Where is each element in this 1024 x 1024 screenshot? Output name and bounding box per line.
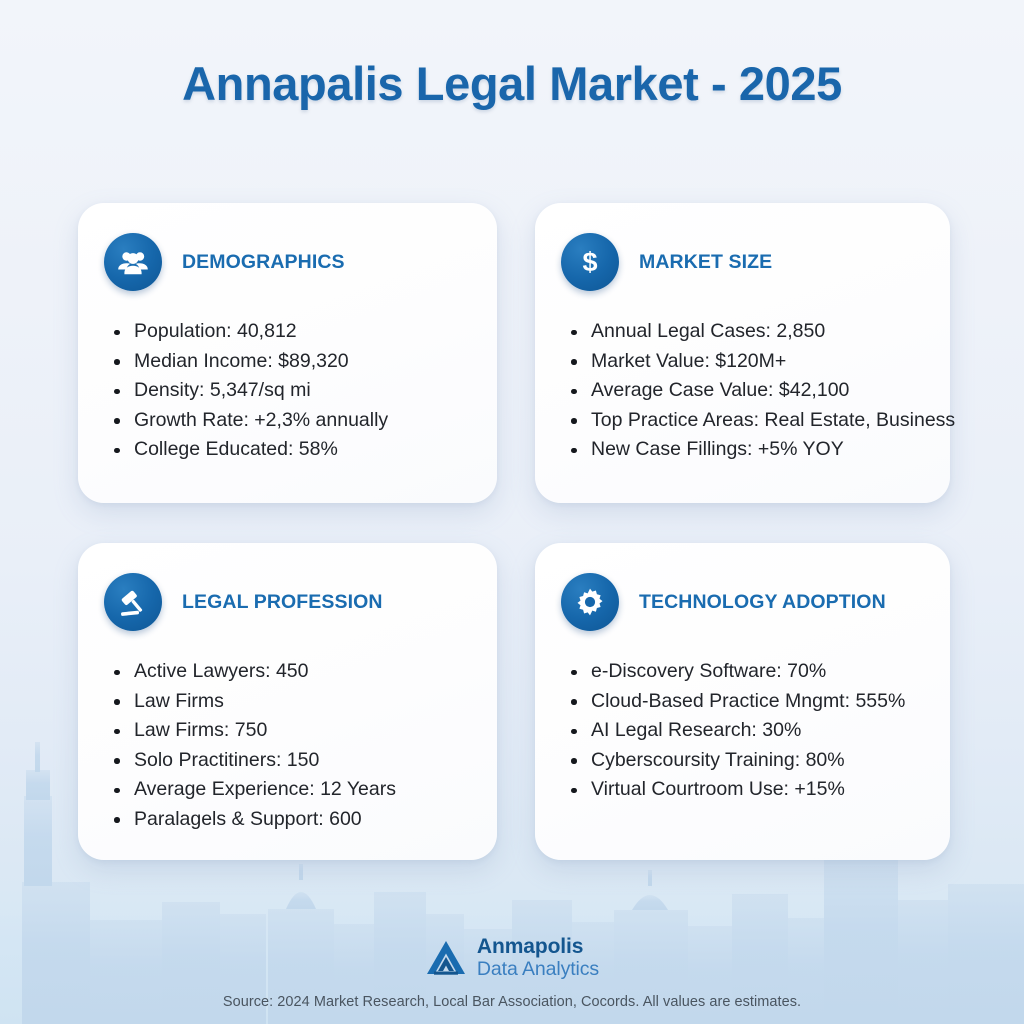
people-icon	[104, 233, 162, 291]
bullet-list-market-size: Annual Legal Cases: 2,850 Market Value: …	[561, 317, 924, 465]
list-item: AI Legal Research: 30%	[565, 716, 924, 746]
triangle-a-logo-icon	[425, 938, 467, 978]
footer: Anmapolis Data Analytics Source: 2024 Ma…	[0, 936, 1024, 1010]
source-note: Source: 2024 Market Research, Local Bar …	[0, 994, 1024, 1010]
list-item: Density: 5,347/sq mi	[108, 376, 471, 406]
card-market-size: $ MARKET SIZE Annual Legal Cases: 2,850 …	[535, 203, 950, 503]
page-title: Annapalis Legal Market - 2025	[0, 56, 1024, 111]
card-title-demographics: DEMOGRAPHICS	[182, 251, 345, 274]
gear-icon	[561, 573, 619, 631]
list-item: Paralagels & Support: 600	[108, 805, 471, 835]
list-item: Active Lawyers: 450	[108, 657, 471, 687]
list-item: Median Income: $89,320	[108, 347, 471, 377]
list-item: Law Firms: 750	[108, 716, 471, 746]
gavel-icon	[104, 573, 162, 631]
brand-tagline: Data Analytics	[477, 958, 599, 980]
list-item: Solo Practitiners: 150	[108, 746, 471, 776]
card-title-legal-profession: LEGAL PROFESSION	[182, 591, 383, 614]
list-item: New Case Fillings: +5% YOY	[565, 435, 924, 465]
infographic-poster: Annapalis Legal Market - 2025 DEMOGRAPHI…	[0, 0, 1024, 1024]
card-title-market-size: MARKET SIZE	[639, 251, 772, 274]
list-item: Virtual Courtroom Use: +15%	[565, 775, 924, 805]
dollar-icon: $	[561, 233, 619, 291]
card-header: TECHNOLOGY ADOPTION	[561, 573, 924, 631]
list-item: Market Value: $120M+	[565, 347, 924, 377]
brand-logo: Anmapolis Data Analytics	[0, 936, 1024, 980]
card-header: LEGAL PROFESSION	[104, 573, 471, 631]
list-item: Cyberscoursity Training: 80%	[565, 746, 924, 776]
card-demographics: DEMOGRAPHICS Population: 40,812 Median I…	[78, 203, 497, 503]
card-title-technology-adoption: TECHNOLOGY ADOPTION	[639, 591, 886, 614]
svg-text:$: $	[582, 247, 597, 277]
list-item: Average Experience: 12 Years	[108, 775, 471, 805]
list-item: Cloud-Based Practice Mngmt: 555%	[565, 687, 924, 717]
bullet-list-demographics: Population: 40,812 Median Income: $89,32…	[104, 317, 471, 465]
list-item: Law Firms	[108, 687, 471, 717]
card-grid: DEMOGRAPHICS Population: 40,812 Median I…	[78, 203, 950, 860]
list-item: Average Case Value: $42,100	[565, 376, 924, 406]
list-item: College Educated: 58%	[108, 435, 471, 465]
card-header: $ MARKET SIZE	[561, 233, 924, 291]
brand-logo-text: Anmapolis Data Analytics	[477, 936, 599, 980]
list-item: Annual Legal Cases: 2,850	[565, 317, 924, 347]
list-item: e-Discovery Software: 70%	[565, 657, 924, 687]
list-item: Growth Rate: +2,3% annually	[108, 406, 471, 436]
brand-name: Anmapolis	[477, 935, 583, 958]
card-technology-adoption: TECHNOLOGY ADOPTION e-Discovery Software…	[535, 543, 950, 860]
list-item: Population: 40,812	[108, 317, 471, 347]
card-header: DEMOGRAPHICS	[104, 233, 471, 291]
bullet-list-technology-adoption: e-Discovery Software: 70% Cloud-Based Pr…	[561, 657, 924, 805]
card-legal-profession: LEGAL PROFESSION Active Lawyers: 450 Law…	[78, 543, 497, 860]
title-area: Annapalis Legal Market - 2025	[0, 56, 1024, 111]
bullet-list-legal-profession: Active Lawyers: 450 Law Firms Law Firms:…	[104, 657, 471, 834]
list-item: Top Practice Areas: Real Estate, Busines…	[565, 406, 924, 436]
